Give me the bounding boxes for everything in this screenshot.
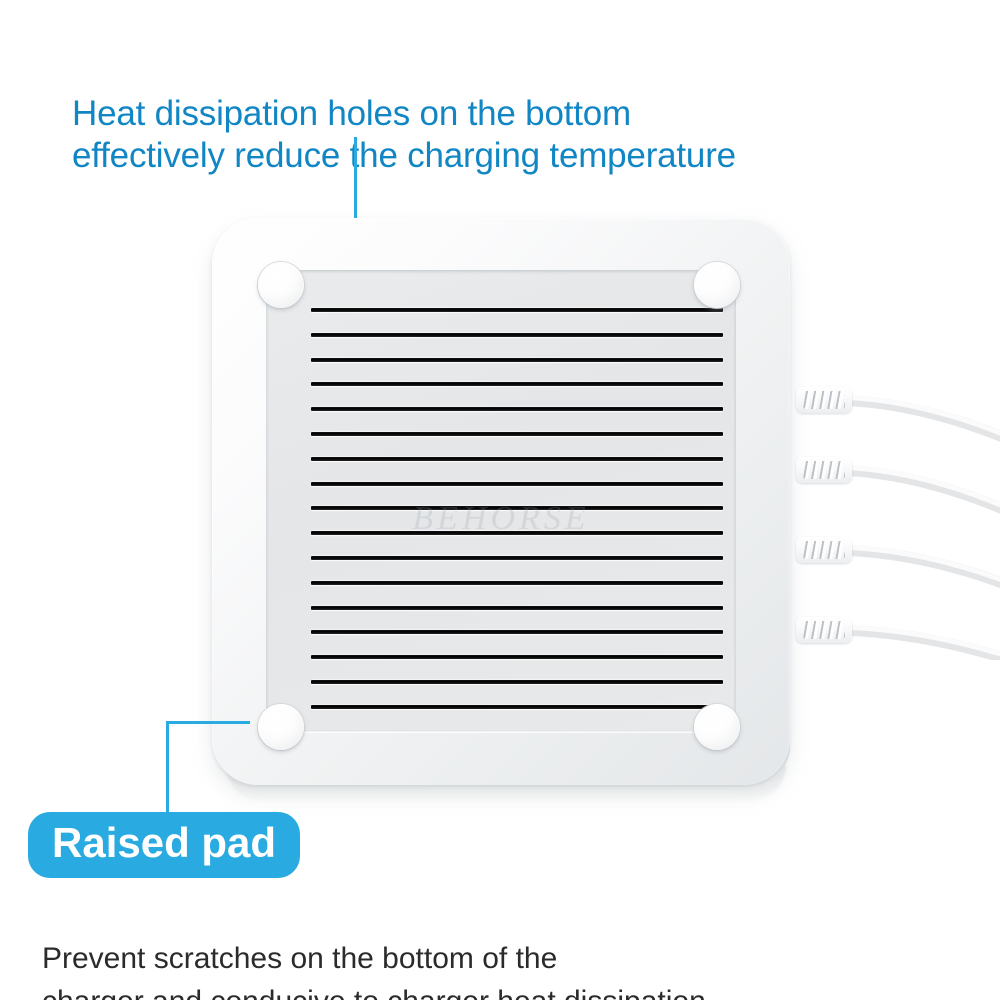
vent-slot <box>311 556 723 560</box>
charger-device: BEHORSE <box>196 205 816 805</box>
caption-line-2: charger and conducive to charger heat di… <box>42 980 942 1000</box>
vent-slot <box>311 457 723 461</box>
vent-slot <box>311 630 723 634</box>
headline-line-2: effectively reduce the charging temperat… <box>72 135 952 178</box>
raised-pad-badge: Raised pad <box>28 812 300 878</box>
raised-pad-top-right <box>694 262 740 308</box>
raised-pad-bottom-right <box>694 704 740 750</box>
vent-slot <box>311 482 723 486</box>
usb-connector-4 <box>796 617 852 643</box>
vent-slot <box>311 581 723 585</box>
raised-pad-bottom-left <box>258 704 304 750</box>
vent-slot <box>311 333 723 337</box>
vent-slot <box>311 606 723 610</box>
vent-slot <box>311 655 723 659</box>
infographic-page: Heat dissipation holes on the bottom eff… <box>0 0 1000 1000</box>
device-body: BEHORSE <box>212 218 790 785</box>
usb-cables <box>780 360 1000 660</box>
vent-slot <box>311 407 723 411</box>
caption-line-1: Prevent scratches on the bottom of the <box>42 942 557 975</box>
usb-connector-1 <box>796 387 852 413</box>
headline-text: Heat dissipation holes on the bottom eff… <box>72 50 952 221</box>
vent-slot <box>311 382 723 386</box>
vent-slot <box>311 680 723 684</box>
vent-slot <box>311 358 723 362</box>
usb-connector-3 <box>796 537 852 563</box>
caption-text: Prevent scratches on the bottom of the c… <box>42 893 942 1000</box>
headline-line-1: Heat dissipation holes on the bottom <box>72 94 631 133</box>
vent-slot <box>311 308 723 312</box>
pointer-line-pad-horizontal <box>166 721 250 724</box>
brand-watermark: BEHORSE <box>212 500 790 538</box>
pointer-line-pad-vertical <box>166 721 169 816</box>
raised-pad-top-left <box>258 262 304 308</box>
usb-connector-2 <box>796 457 852 483</box>
vent-slot <box>311 705 723 709</box>
vent-slot <box>311 432 723 436</box>
